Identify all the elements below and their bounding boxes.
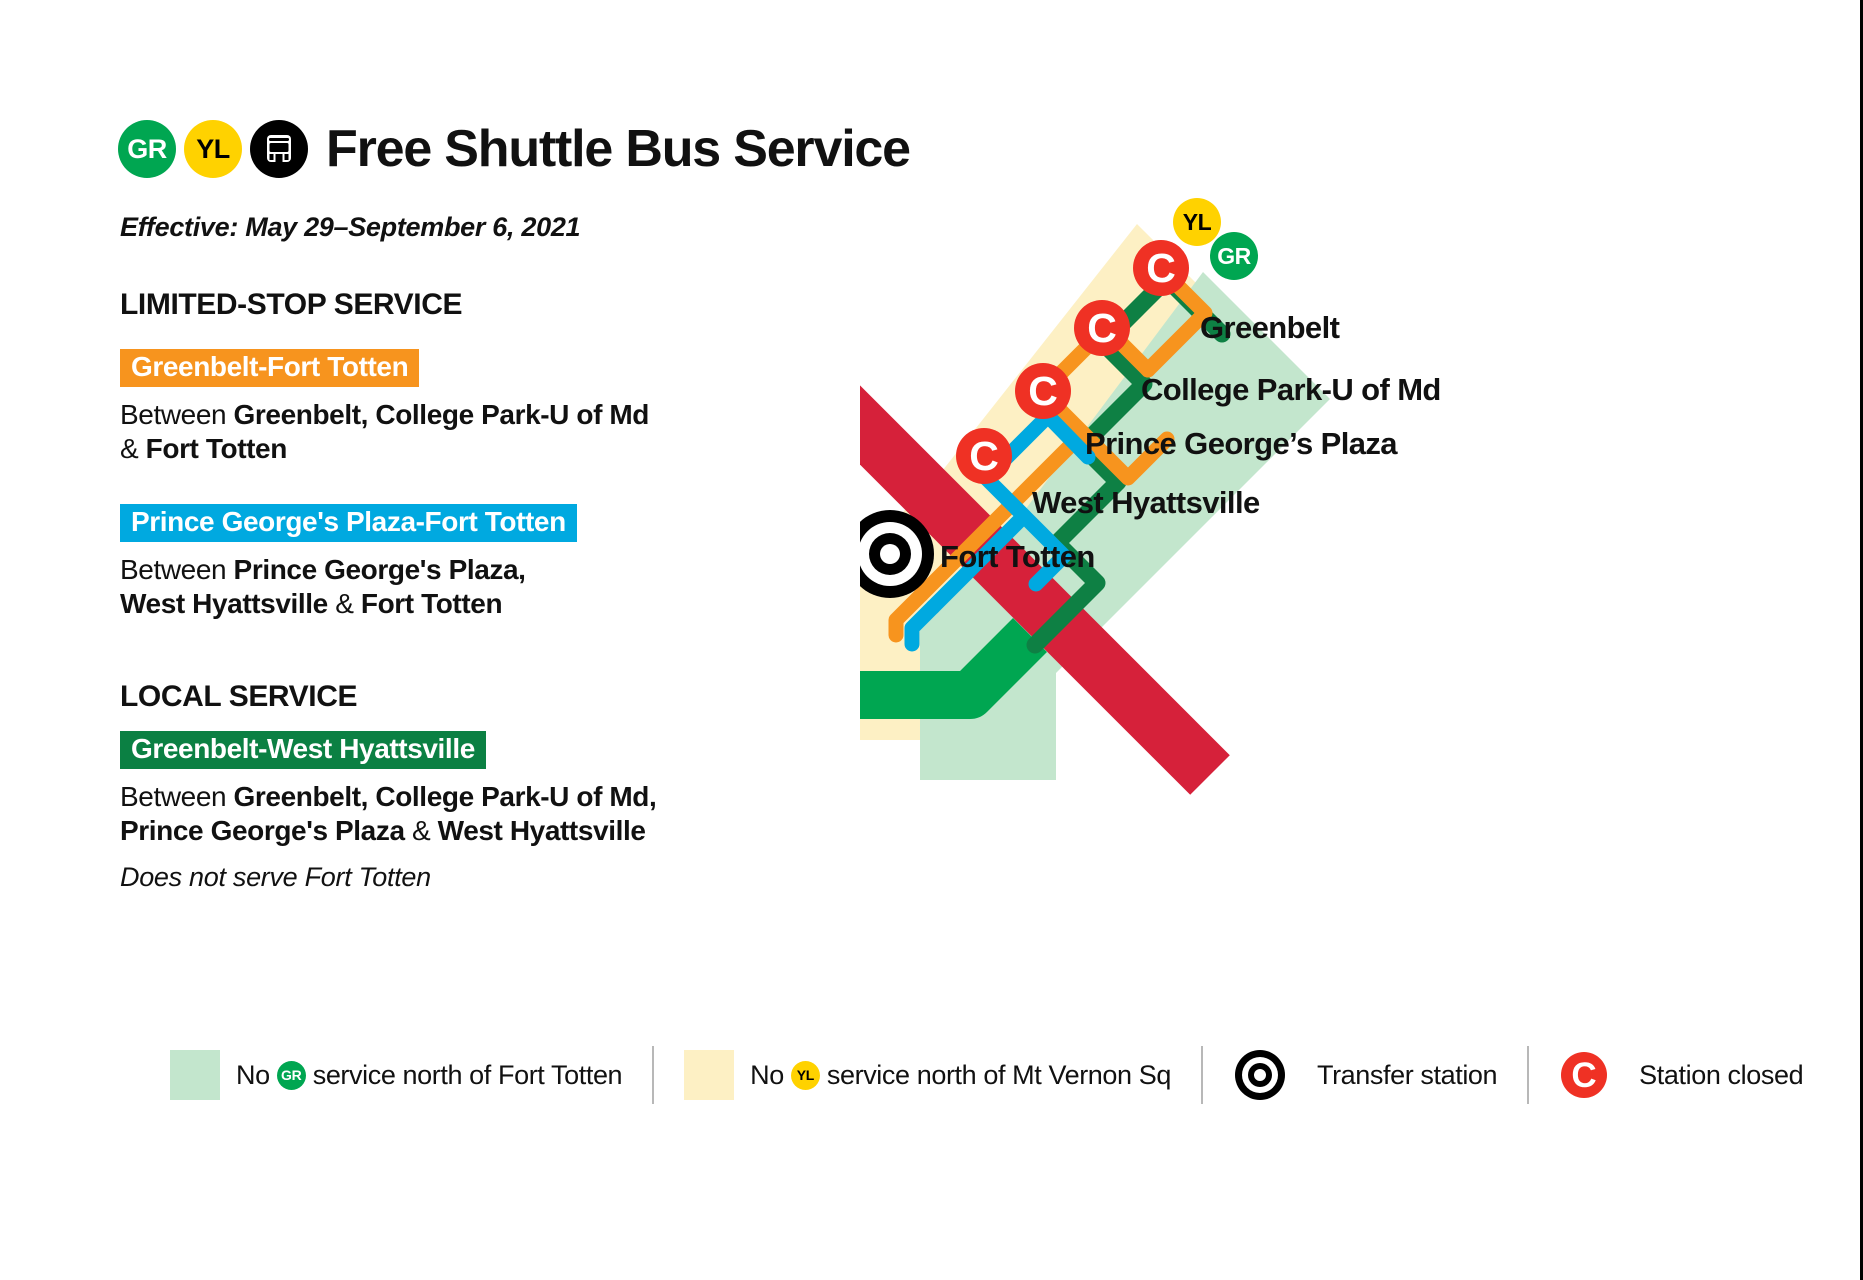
- desc-conjunction: &: [328, 588, 361, 619]
- closed-station-marker-college-park: C: [1074, 300, 1130, 356]
- legend-swatch-yellow: [684, 1050, 734, 1100]
- route-tag-greenbelt-west-hyattsville: Greenbelt-West Hyattsville: [120, 731, 486, 769]
- legend-text-before: No: [236, 1060, 270, 1091]
- svg-text:C: C: [1572, 1056, 1597, 1095]
- map-yellow-line-badge: YL: [1173, 198, 1221, 246]
- map-station-label-college-park: College Park-U of Md: [1141, 372, 1441, 408]
- route-tag-greenbelt-fort-totten: Greenbelt-Fort Totten: [120, 349, 419, 387]
- route-description-greenbelt-fort-totten: Between Greenbelt, College Park-U of Md …: [120, 398, 820, 466]
- legend-item-transfer-station: Transfer station: [1233, 1040, 1497, 1110]
- desc-stations-1: Prince George's Plaza,: [234, 554, 526, 585]
- legend-item-no-gr-service: No GR service north of Fort Totten: [170, 1040, 622, 1110]
- map-green-line-badge: GR: [1210, 232, 1258, 280]
- page-header: GR YL Free Shuttle Bus Service: [118, 120, 910, 178]
- desc-stations-3: West Hyattsville: [438, 815, 646, 846]
- route-tag-pg-plaza-fort-totten: Prince George's Plaza-Fort Totten: [120, 504, 577, 542]
- yellow-line-badge-label: YL: [196, 134, 230, 165]
- service-map: C C C C YL: [860, 180, 1860, 800]
- desc-stations-1: Greenbelt, College Park-U of Md: [234, 399, 649, 430]
- desc-stations-2: Fort Totten: [146, 433, 287, 464]
- green-line-badge-label: GR: [127, 134, 167, 165]
- legend-label-station-closed: Station closed: [1639, 1060, 1803, 1091]
- legend-item-station-closed: C Station closed: [1559, 1040, 1803, 1110]
- legend-yl-badge: YL: [791, 1061, 820, 1090]
- section-heading-local: LOCAL SERVICE: [120, 680, 357, 714]
- page-title: Free Shuttle Bus Service: [326, 123, 910, 175]
- map-svg: C C C C: [860, 180, 1860, 800]
- legend-divider-2: [1201, 1046, 1203, 1104]
- map-station-label-pg-plaza: Prince George’s Plaza: [1085, 426, 1397, 462]
- legend-swatch-green: [170, 1050, 220, 1100]
- legend-divider-1: [652, 1046, 654, 1104]
- svg-text:C: C: [1087, 305, 1117, 351]
- svg-text:C: C: [1146, 245, 1176, 291]
- legend-gr-badge: GR: [277, 1061, 306, 1090]
- svg-text:C: C: [969, 433, 999, 479]
- green-line-badge: GR: [118, 120, 176, 178]
- desc-prefix: Between: [120, 554, 234, 585]
- shuttle-bus-service-notice: GR YL Free Shuttle Bus Service Effective…: [0, 0, 1863, 1280]
- legend-text-before: No: [750, 1060, 784, 1091]
- desc-conjunction: &: [120, 433, 146, 464]
- station-closed-icon: C: [1559, 1050, 1609, 1100]
- transfer-station-icon: [1233, 1048, 1287, 1102]
- legend-label-transfer-station: Transfer station: [1317, 1060, 1497, 1091]
- legend-text-no-yl-service: No YL service north of Mt Vernon Sq: [750, 1060, 1171, 1091]
- desc-stations-2: Prince George's Plaza: [120, 815, 405, 846]
- desc-stations-3: Fort Totten: [361, 588, 502, 619]
- legend-item-no-yl-service: No YL service north of Mt Vernon Sq: [684, 1040, 1171, 1110]
- legend-text-no-gr-service: No GR service north of Fort Totten: [236, 1060, 622, 1091]
- map-green-line-badge-label: GR: [1217, 243, 1251, 270]
- closed-station-marker-west-hyattsville: C: [956, 428, 1012, 484]
- route-description-pg-plaza-fort-totten: Between Prince George's Plaza, West Hyat…: [120, 553, 820, 621]
- route-description-greenbelt-west-hyattsville: Between Greenbelt, College Park-U of Md,…: [120, 780, 820, 848]
- bus-icon: [250, 120, 308, 178]
- svg-text:C: C: [1028, 368, 1058, 414]
- legend-text-after: service north of Fort Totten: [313, 1060, 622, 1091]
- map-station-label-west-hyattsville: West Hyattsville: [1032, 485, 1260, 521]
- map-yellow-line-badge-label: YL: [1183, 209, 1211, 236]
- legend-gr-badge-label: GR: [281, 1067, 301, 1083]
- yellow-line-badge: YL: [184, 120, 242, 178]
- closed-station-marker-pg-plaza: C: [1015, 363, 1071, 419]
- desc-prefix: Between: [120, 399, 234, 430]
- local-service-note: Does not serve Fort Totten: [120, 862, 431, 893]
- map-station-label-greenbelt: Greenbelt: [1200, 310, 1339, 346]
- legend-divider-3: [1527, 1046, 1529, 1104]
- desc-conjunction: &: [405, 815, 438, 846]
- legend-text-after: service north of Mt Vernon Sq: [827, 1060, 1171, 1091]
- map-station-label-fort-totten: Fort Totten: [940, 539, 1095, 575]
- desc-prefix: Between: [120, 781, 234, 812]
- desc-stations-1: Greenbelt, College Park-U of Md,: [234, 781, 657, 812]
- section-heading-limited-stop: LIMITED-STOP SERVICE: [120, 288, 462, 322]
- legend-yl-badge-label: YL: [797, 1067, 814, 1083]
- desc-stations-2: West Hyattsville: [120, 588, 328, 619]
- effective-dates: Effective: May 29–September 6, 2021: [120, 212, 580, 243]
- legend-bar: No GR service north of Fort Totten No YL…: [170, 1040, 1803, 1110]
- closed-station-marker-greenbelt: C: [1133, 240, 1189, 296]
